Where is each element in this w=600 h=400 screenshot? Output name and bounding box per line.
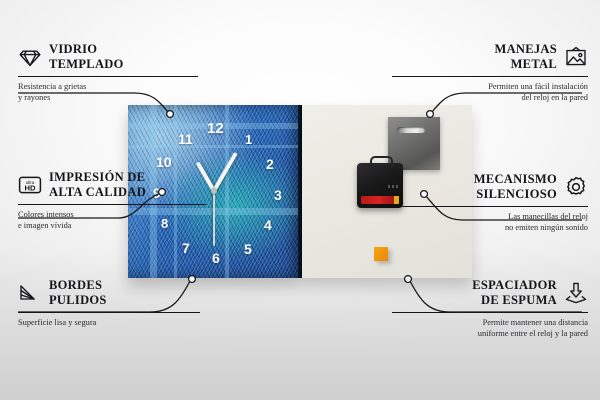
clock-number-2: 2 xyxy=(266,157,274,171)
callout-subtitle-line1: Permiten una fácil instalación xyxy=(488,82,588,91)
clock-number-10: 10 xyxy=(156,155,172,169)
callout-rule xyxy=(18,76,198,77)
callout-title: BORDES PULIDOS xyxy=(49,278,107,308)
clock-mechanism-box xyxy=(357,163,403,208)
gear-icon xyxy=(564,175,588,199)
callout-subtitle: Permite mantener una distancia uniforme … xyxy=(392,317,588,339)
clock-number-3: 3 xyxy=(274,188,282,202)
callout-title-line1: MANEJAS xyxy=(494,42,557,56)
callout-title-line2: METAL xyxy=(511,57,557,71)
callout-manejas-metal: MANEJAS METAL Permiten una fácil instala… xyxy=(392,42,588,103)
foam-spacer-square xyxy=(374,247,388,261)
callout-subtitle-line2: e imagen vívida xyxy=(18,221,72,230)
clock-center-pin xyxy=(211,188,217,194)
callout-subtitle-line1: Superficie lisa y segura xyxy=(18,318,96,327)
callout-rule xyxy=(400,206,588,207)
callout-title-line1: ESPACIADOR xyxy=(472,278,557,292)
callout-title-line2: DE ESPUMA xyxy=(481,293,557,307)
callout-title: IMPRESIÓN DE ALTA CALIDAD xyxy=(49,170,146,200)
callout-title: VIDRIO TEMPLADO xyxy=(49,42,124,72)
callout-title-line2: TEMPLADO xyxy=(49,57,124,71)
callout-subtitle-line2: uniforme entre el reloj y la pared xyxy=(478,329,588,338)
ultra-hd-icon: ultra HD xyxy=(18,173,42,197)
callout-title-line1: BORDES xyxy=(49,278,102,292)
clock-number-12: 12 xyxy=(207,121,224,136)
callout-title-line1: MECANISMO xyxy=(474,172,557,186)
callout-title-line2: ALTA CALIDAD xyxy=(49,185,146,199)
callout-subtitle-line1: Las manecillas del reloj xyxy=(508,212,588,221)
callout-subtitle-line1: Permite mantener una distancia xyxy=(483,318,588,327)
callout-subtitle-line2: no emiten ningún sonido xyxy=(505,223,588,232)
clock-second-hand xyxy=(214,191,216,246)
clock-number-5: 5 xyxy=(244,242,252,256)
callout-subtitle-line2: del reloj en la pared xyxy=(521,93,588,102)
clock-number-4: 4 xyxy=(264,218,272,232)
callout-bordes-pulidos: BORDES PULIDOS Superficie lisa y segura xyxy=(18,278,200,328)
clock-number-6: 6 xyxy=(212,251,220,265)
polished-edges-icon xyxy=(18,281,42,305)
callout-subtitle: Resistencia a grietas y rayones xyxy=(18,81,198,103)
callout-title-line1: VIDRIO xyxy=(49,42,97,56)
battery xyxy=(361,196,397,204)
callout-mecanismo-silencioso: MECANISMO SILENCIOSO Las manecillas del … xyxy=(400,172,588,233)
callout-subtitle: Colores intensos e imagen vívida xyxy=(18,209,206,231)
callout-title-line1: IMPRESIÓN DE xyxy=(49,170,145,184)
diamond-icon xyxy=(18,45,42,69)
callout-subtitle-line1: Resistencia a grietas xyxy=(18,82,86,91)
callout-rule xyxy=(18,312,200,313)
clock-number-11: 11 xyxy=(178,132,193,146)
mechanism-label xyxy=(388,185,398,188)
callout-vidrio-templado: VIDRIO TEMPLADO Resistencia a grietas y … xyxy=(18,42,198,103)
callout-espaciador-de-espuma: ESPACIADOR DE ESPUMA Permite mantener un… xyxy=(392,278,588,339)
callout-title-line2: SILENCIOSO xyxy=(476,187,557,201)
callout-title-line2: PULIDOS xyxy=(49,293,107,307)
callout-title: MANEJAS METAL xyxy=(494,42,557,72)
callout-subtitle-line1: Colores intensos xyxy=(18,210,74,219)
callout-rule xyxy=(18,204,206,205)
callout-subtitle: Las manecillas del reloj no emiten ningú… xyxy=(400,211,588,233)
callout-title: ESPACIADOR DE ESPUMA xyxy=(472,278,557,308)
callout-subtitle-line2: y rayones xyxy=(18,93,50,102)
clock-number-7: 7 xyxy=(182,241,190,255)
hanger-keyhole-slot xyxy=(397,127,425,133)
callout-impresion-alta-calidad: ultra HD IMPRESIÓN DE ALTA CALIDAD Color… xyxy=(18,170,206,231)
callout-rule xyxy=(392,76,588,77)
callout-title: MECANISMO SILENCIOSO xyxy=(474,172,557,202)
clock-number-1: 1 xyxy=(245,133,252,146)
callout-rule xyxy=(392,312,588,313)
svg-text:HD: HD xyxy=(25,183,36,192)
infographic-stage: 12 1 2 3 4 5 6 7 8 9 10 11 xyxy=(0,0,600,400)
callout-subtitle: Superficie lisa y segura xyxy=(18,317,200,328)
picture-hanger-icon xyxy=(564,45,588,69)
foam-spacer-down-arrow-icon xyxy=(564,281,588,305)
callout-subtitle: Permiten una fácil instalación del reloj… xyxy=(392,81,588,103)
mechanism-hanging-loop xyxy=(370,156,393,167)
